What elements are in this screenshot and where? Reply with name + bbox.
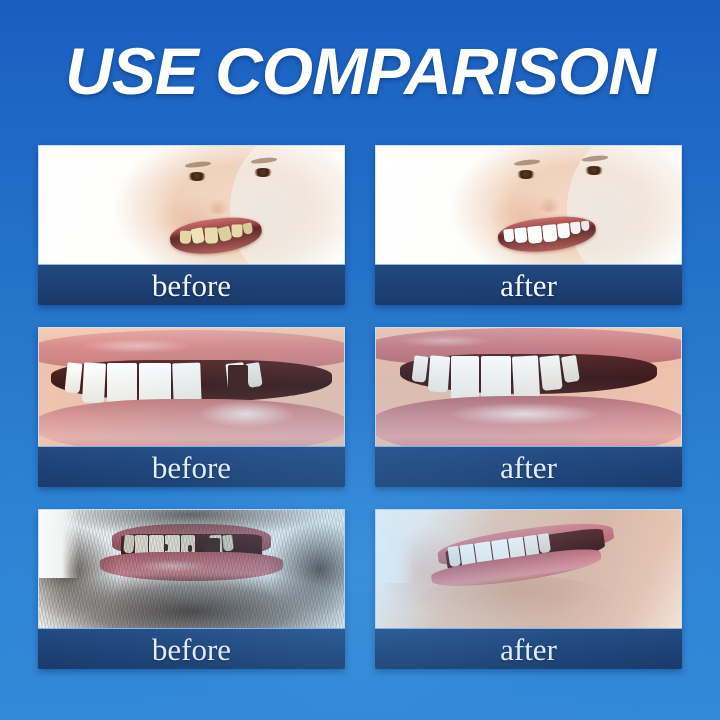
page-title: USE COMPARISON — [0, 38, 720, 104]
comparison-card-row3-before[interactable]: before — [38, 509, 345, 669]
label-bar-row3-before: before — [38, 628, 345, 669]
label-bar-row3-after: after — [375, 628, 682, 669]
comparison-card-row2-after[interactable]: after — [375, 327, 682, 487]
photo-row3-before — [38, 509, 345, 629]
label-text: after — [500, 270, 557, 301]
label-text: after — [500, 452, 557, 483]
comparison-card-row1-before[interactable]: before — [38, 145, 345, 305]
label-text: after — [500, 634, 557, 665]
photo-row1-after — [375, 145, 682, 265]
label-text: before — [152, 452, 231, 483]
comparison-card-row2-before[interactable]: before — [38, 327, 345, 487]
label-text: before — [152, 634, 231, 665]
label-bar-row2-before: before — [38, 446, 345, 487]
comparison-card-row3-after[interactable]: after — [375, 509, 682, 669]
photo-row2-after — [375, 327, 682, 447]
label-text: before — [152, 270, 231, 301]
label-bar-row1-after: after — [375, 264, 682, 305]
comparison-poster: USE COMPARISON — [0, 0, 720, 720]
comparison-grid: before — [38, 145, 682, 683]
label-bar-row1-before: before — [38, 264, 345, 305]
photo-row2-before — [38, 327, 345, 447]
label-bar-row2-after: after — [375, 446, 682, 487]
comparison-card-row1-after[interactable]: after — [375, 145, 682, 305]
photo-row1-before — [38, 145, 345, 265]
photo-row3-after — [375, 509, 682, 629]
